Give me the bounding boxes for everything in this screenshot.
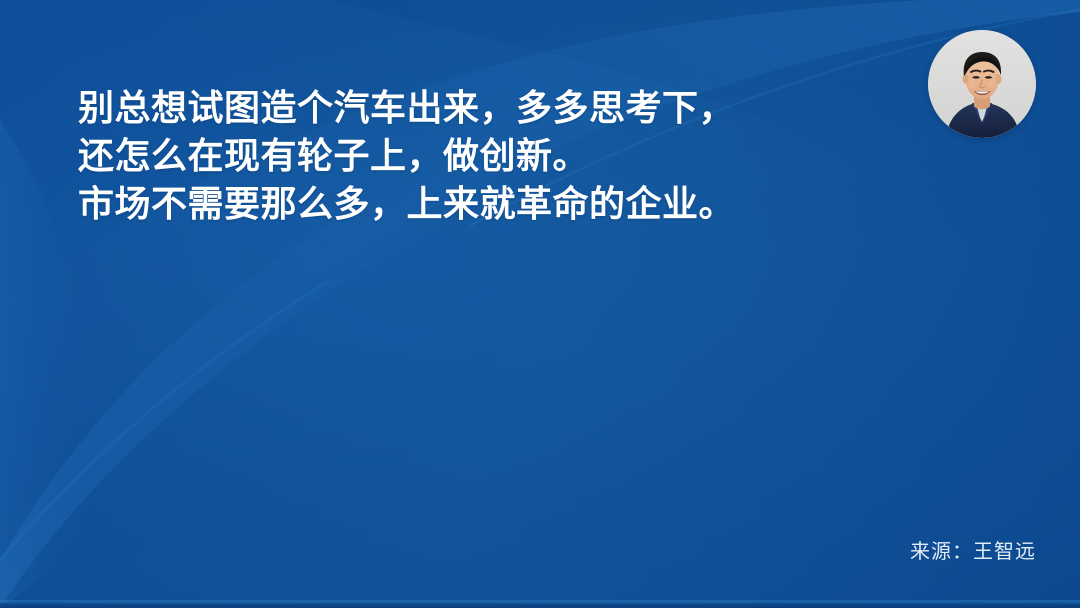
source-credit: 来源：王智远 xyxy=(910,540,1036,564)
quote-text-block: 别总想试图造个汽车出来，多多思考下， 还怎么在现有轮子上，做创新。 市场不需要那… xyxy=(78,84,888,228)
quote-line-1: 别总想试图造个汽车出来，多多思考下， xyxy=(78,84,888,132)
avatar xyxy=(928,30,1036,138)
bottom-edge-band xyxy=(0,600,1080,608)
avatar-portrait-photo xyxy=(928,30,1036,138)
slide-canvas: 别总想试图造个汽车出来，多多思考下， 还怎么在现有轮子上，做创新。 市场不需要那… xyxy=(0,0,1080,608)
quote-line-3: 市场不需要那么多，上来就革命的企业。 xyxy=(78,180,888,228)
quote-line-2: 还怎么在现有轮子上，做创新。 xyxy=(78,132,888,180)
